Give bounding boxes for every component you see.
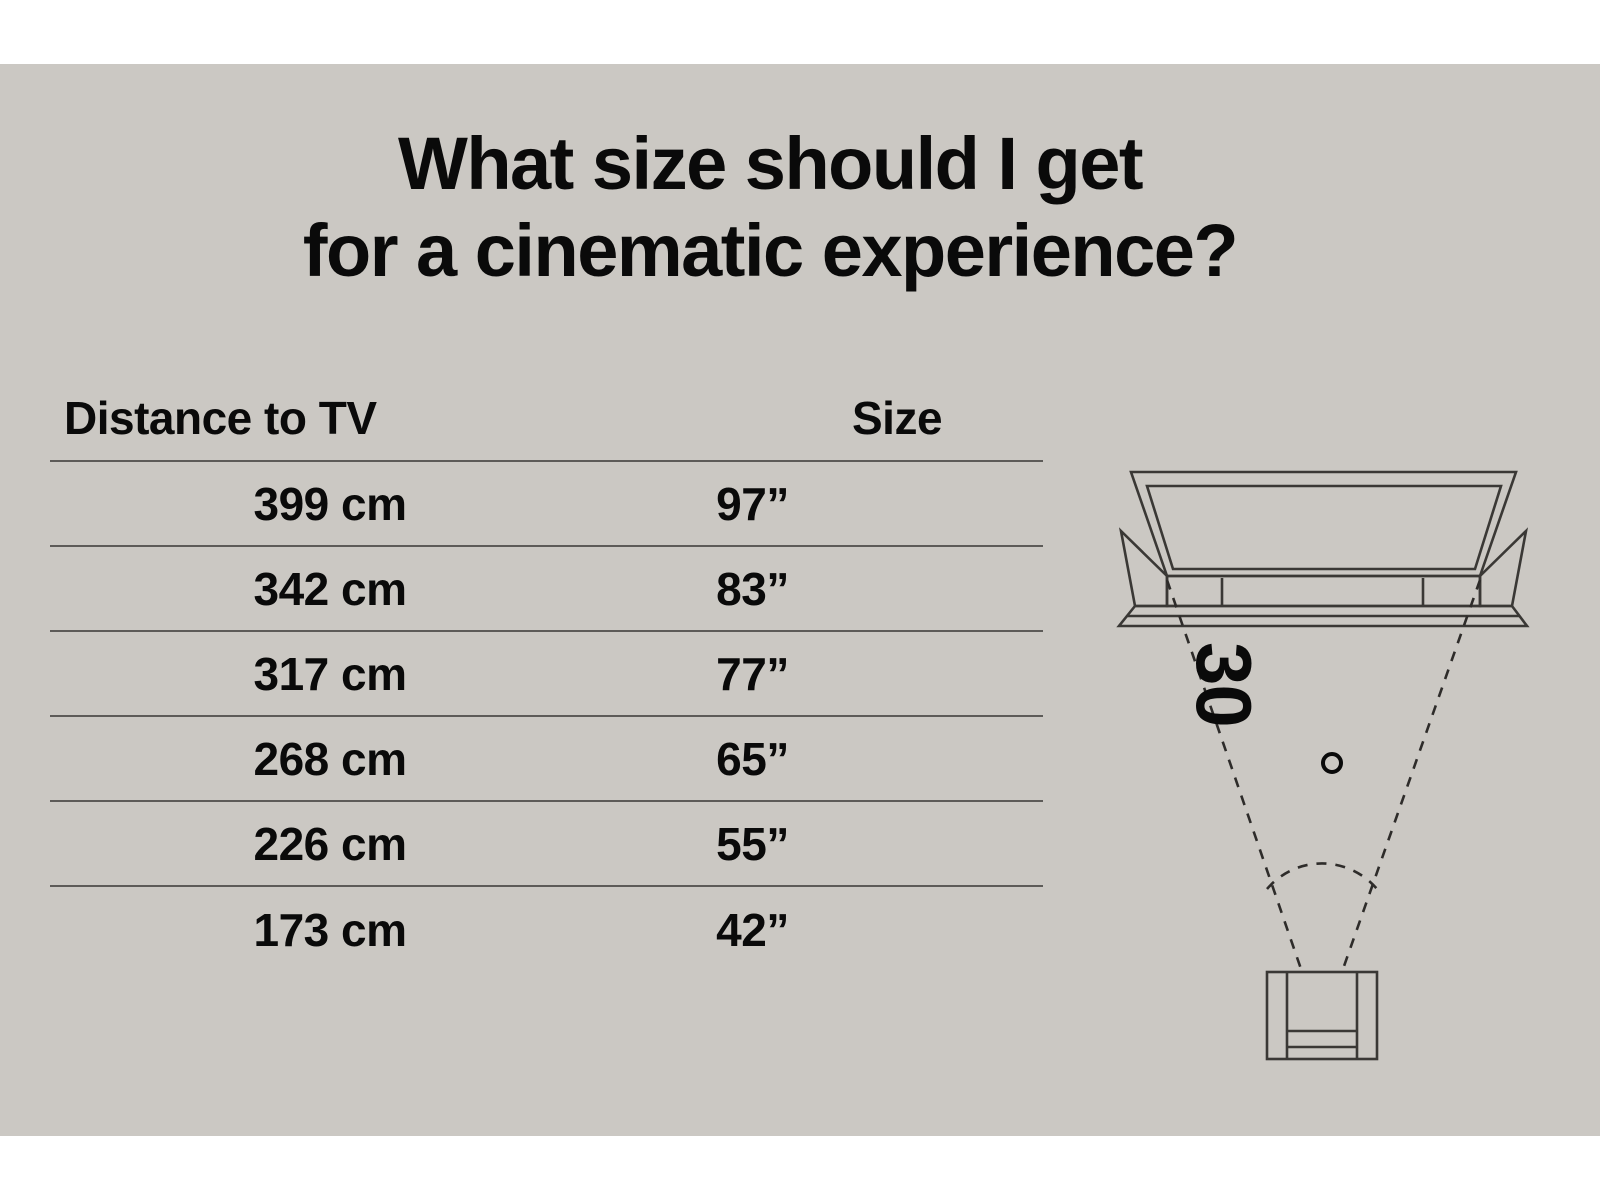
cell-size: 65”: [610, 732, 1043, 786]
viewing-angle-sightlines: [1167, 580, 1480, 969]
title-line-1: What size should I get: [0, 120, 1540, 207]
sofa-top-view: [1267, 972, 1377, 1059]
table-row: 342 cm 83”: [50, 547, 1043, 632]
infographic-root: What size should I get for a cinematic e…: [0, 0, 1600, 1200]
cell-distance: 173 cm: [50, 903, 610, 957]
cell-size: 97”: [610, 477, 1043, 531]
angle-arc: [1267, 863, 1377, 889]
table-row: 317 cm 77”: [50, 632, 1043, 717]
column-header-size: Size: [824, 391, 1043, 445]
cell-size: 83”: [610, 562, 1043, 616]
table-row: 173 cm 42”: [50, 887, 1043, 972]
cell-distance: 268 cm: [50, 732, 610, 786]
content-panel: What size should I get for a cinematic e…: [0, 64, 1600, 1136]
table-row: 226 cm 55”: [50, 802, 1043, 887]
cell-size: 55”: [610, 817, 1043, 871]
cell-distance: 317 cm: [50, 647, 610, 701]
cell-distance: 342 cm: [50, 562, 610, 616]
page-title: What size should I get for a cinematic e…: [0, 120, 1540, 295]
table-header-row: Distance to TV Size: [50, 376, 1043, 462]
television-top-view: [1119, 472, 1527, 626]
cell-distance: 226 cm: [50, 817, 610, 871]
cell-distance: 399 cm: [50, 477, 610, 531]
cell-size: 42”: [610, 903, 1043, 957]
cell-size: 77”: [610, 647, 1043, 701]
title-line-2: for a cinematic experience?: [0, 207, 1540, 294]
table-row: 399 cm 97”: [50, 462, 1043, 547]
column-header-distance: Distance to TV: [64, 391, 824, 445]
table-row: 268 cm 65”: [50, 717, 1043, 802]
size-distance-table: Distance to TV Size 399 cm 97” 342 cm 83…: [50, 376, 1043, 972]
viewing-angle-diagram: [1075, 394, 1595, 1094]
